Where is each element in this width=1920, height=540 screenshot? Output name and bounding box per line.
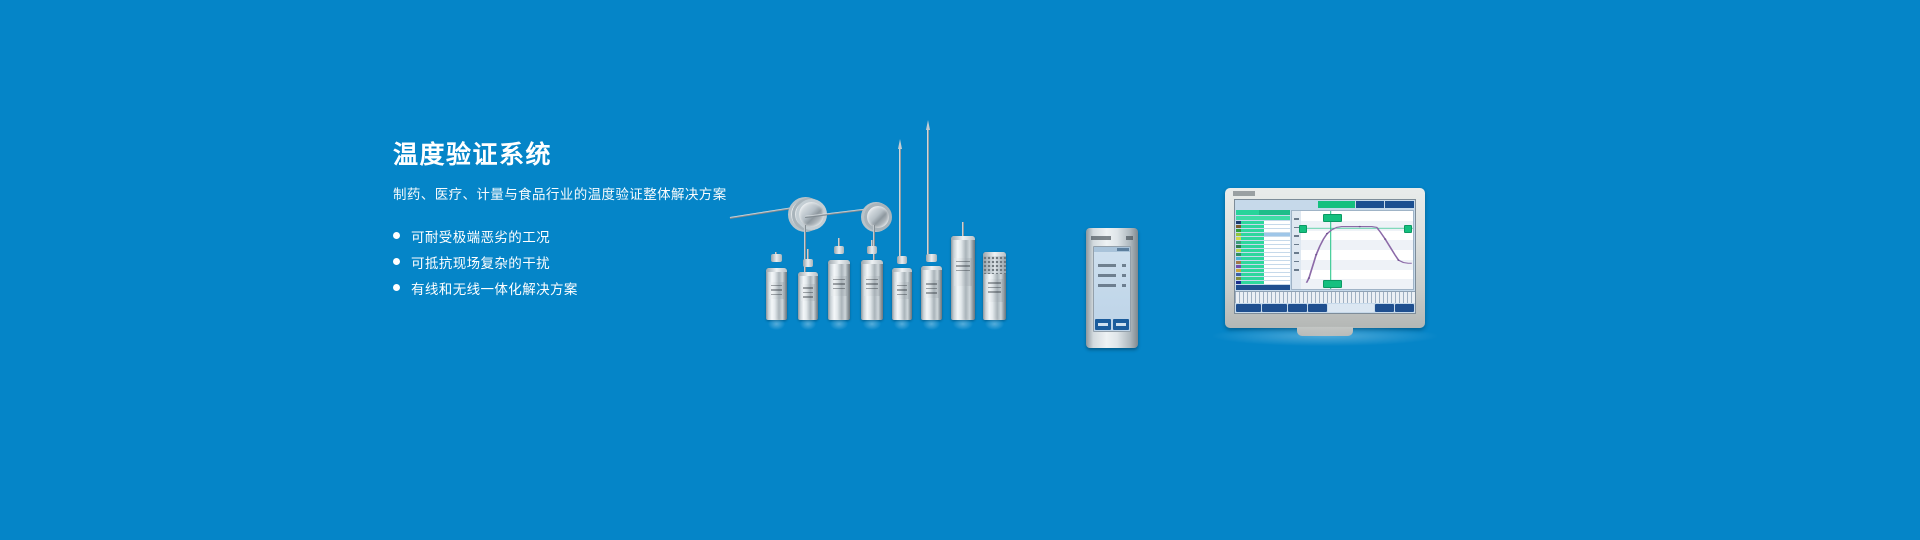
table-footer-buttons xyxy=(1236,285,1290,290)
temperature-logger xyxy=(828,246,850,320)
bottom-button[interactable] xyxy=(1288,304,1307,312)
table-row[interactable] xyxy=(1236,257,1290,260)
reference-handle-left[interactable] xyxy=(1299,225,1307,233)
feature-label: 有线和无线一体化解决方案 xyxy=(411,278,578,298)
monitor-bezel xyxy=(1225,188,1425,328)
table-row[interactable] xyxy=(1236,253,1290,256)
table-row[interactable] xyxy=(1236,237,1290,240)
handheld-reader[interactable] xyxy=(1086,228,1138,348)
software-bottom-toolbar xyxy=(1235,303,1415,313)
needle-probe xyxy=(927,129,929,256)
feature-label: 可耐受极端恶劣的工况 xyxy=(411,226,550,246)
menu-item[interactable] xyxy=(1098,264,1126,267)
table-row[interactable] xyxy=(1236,249,1290,252)
table-subheader xyxy=(1236,216,1290,220)
temperature-logger xyxy=(892,256,912,320)
needle-probe xyxy=(899,148,901,256)
toolbar-button[interactable] xyxy=(1385,201,1414,208)
feature-label: 可抵抗现场复杂的干扰 xyxy=(411,252,550,272)
table-footer-button[interactable] xyxy=(1264,285,1291,290)
temperature-logger xyxy=(798,257,818,320)
handheld-screen xyxy=(1093,246,1131,332)
bottom-button[interactable] xyxy=(1395,304,1414,312)
table-row[interactable] xyxy=(1236,229,1290,232)
software-body xyxy=(1235,209,1415,291)
chart-canvas xyxy=(1292,211,1413,289)
table-rows xyxy=(1236,221,1290,284)
temperature-logger xyxy=(951,230,975,320)
bottom-button[interactable] xyxy=(1308,304,1327,312)
hero-banner: 温度验证系统 制药、医疗、计量与食品行业的温度验证整体解决方案 可耐受极端恶劣的… xyxy=(0,0,1920,540)
bottom-button[interactable] xyxy=(1375,304,1394,312)
temperature-logger-mesh xyxy=(983,252,1006,320)
channel-table xyxy=(1236,210,1290,290)
temperature-chart xyxy=(1291,210,1414,290)
reference-handle-right[interactable] xyxy=(1404,225,1412,233)
validation-software-monitor xyxy=(1225,188,1425,328)
handheld-softkeys xyxy=(1094,319,1130,331)
chart-time-axis xyxy=(1235,291,1415,303)
table-row[interactable] xyxy=(1236,245,1290,248)
handheld-menu xyxy=(1094,252,1130,287)
table-row[interactable] xyxy=(1236,277,1290,280)
temperature-logger xyxy=(766,260,787,320)
temperature-logger xyxy=(921,254,942,320)
table-row[interactable] xyxy=(1236,221,1290,224)
table-row[interactable] xyxy=(1236,269,1290,272)
table-row[interactable] xyxy=(1236,261,1290,264)
menu-item[interactable] xyxy=(1098,274,1126,277)
monitor-brand-logo xyxy=(1233,191,1255,196)
softkey-right[interactable] xyxy=(1113,319,1129,330)
table-row[interactable] xyxy=(1236,241,1290,244)
toolbar-button[interactable] xyxy=(1356,201,1385,208)
bullet-dot-icon xyxy=(393,232,400,239)
temperature-logger xyxy=(861,246,883,320)
software-toolbar xyxy=(1235,200,1415,209)
cursor-label-top[interactable] xyxy=(1323,214,1342,222)
cursor-label-bottom[interactable] xyxy=(1323,280,1342,288)
handheld-brand xyxy=(1091,235,1133,240)
table-row[interactable] xyxy=(1236,225,1290,228)
table-header xyxy=(1236,210,1290,215)
table-row[interactable] xyxy=(1236,281,1290,284)
table-row[interactable] xyxy=(1236,273,1290,276)
bullet-dot-icon xyxy=(393,284,400,291)
bullet-dot-icon xyxy=(393,258,400,265)
table-row[interactable] xyxy=(1236,233,1290,236)
table-footer-button[interactable] xyxy=(1236,285,1263,290)
software-screen xyxy=(1234,199,1416,314)
table-row[interactable] xyxy=(1236,265,1290,268)
bottom-button[interactable] xyxy=(1236,304,1261,312)
softkey-left[interactable] xyxy=(1095,319,1111,330)
menu-item[interactable] xyxy=(1098,284,1126,287)
product-photo-group xyxy=(720,120,1220,320)
bottom-button[interactable] xyxy=(1262,304,1287,312)
toolbar-button-active[interactable] xyxy=(1318,201,1355,208)
monitor-reflection xyxy=(1213,326,1437,346)
